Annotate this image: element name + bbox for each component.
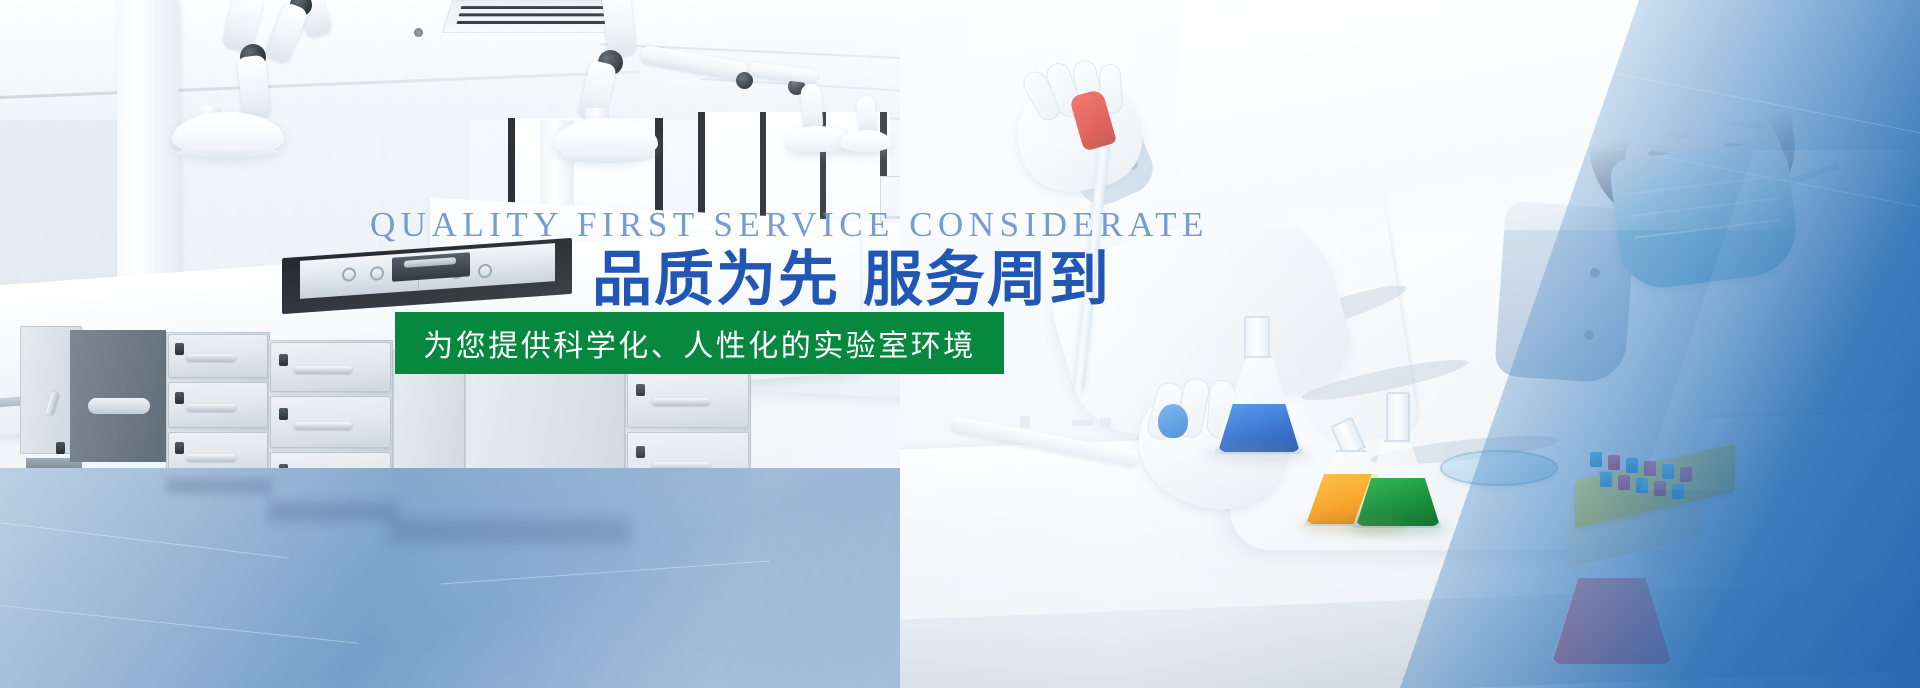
hero-banner: QUALITY FIRST SERVICE CONSIDERATE 品质为先 服… — [0, 0, 1920, 688]
banner-text-layer: QUALITY FIRST SERVICE CONSIDERATE 品质为先 服… — [0, 0, 1920, 688]
banner-headline: 品质为先 服务周到 — [592, 249, 1111, 312]
banner-eyebrow-text: QUALITY FIRST SERVICE CONSIDERATE — [370, 205, 1209, 245]
banner-subtitle-text: 为您提供科学化、人性化的实验室环境 — [423, 321, 976, 365]
banner-subtitle-bar: 为您提供科学化、人性化的实验室环境 — [395, 312, 1004, 374]
